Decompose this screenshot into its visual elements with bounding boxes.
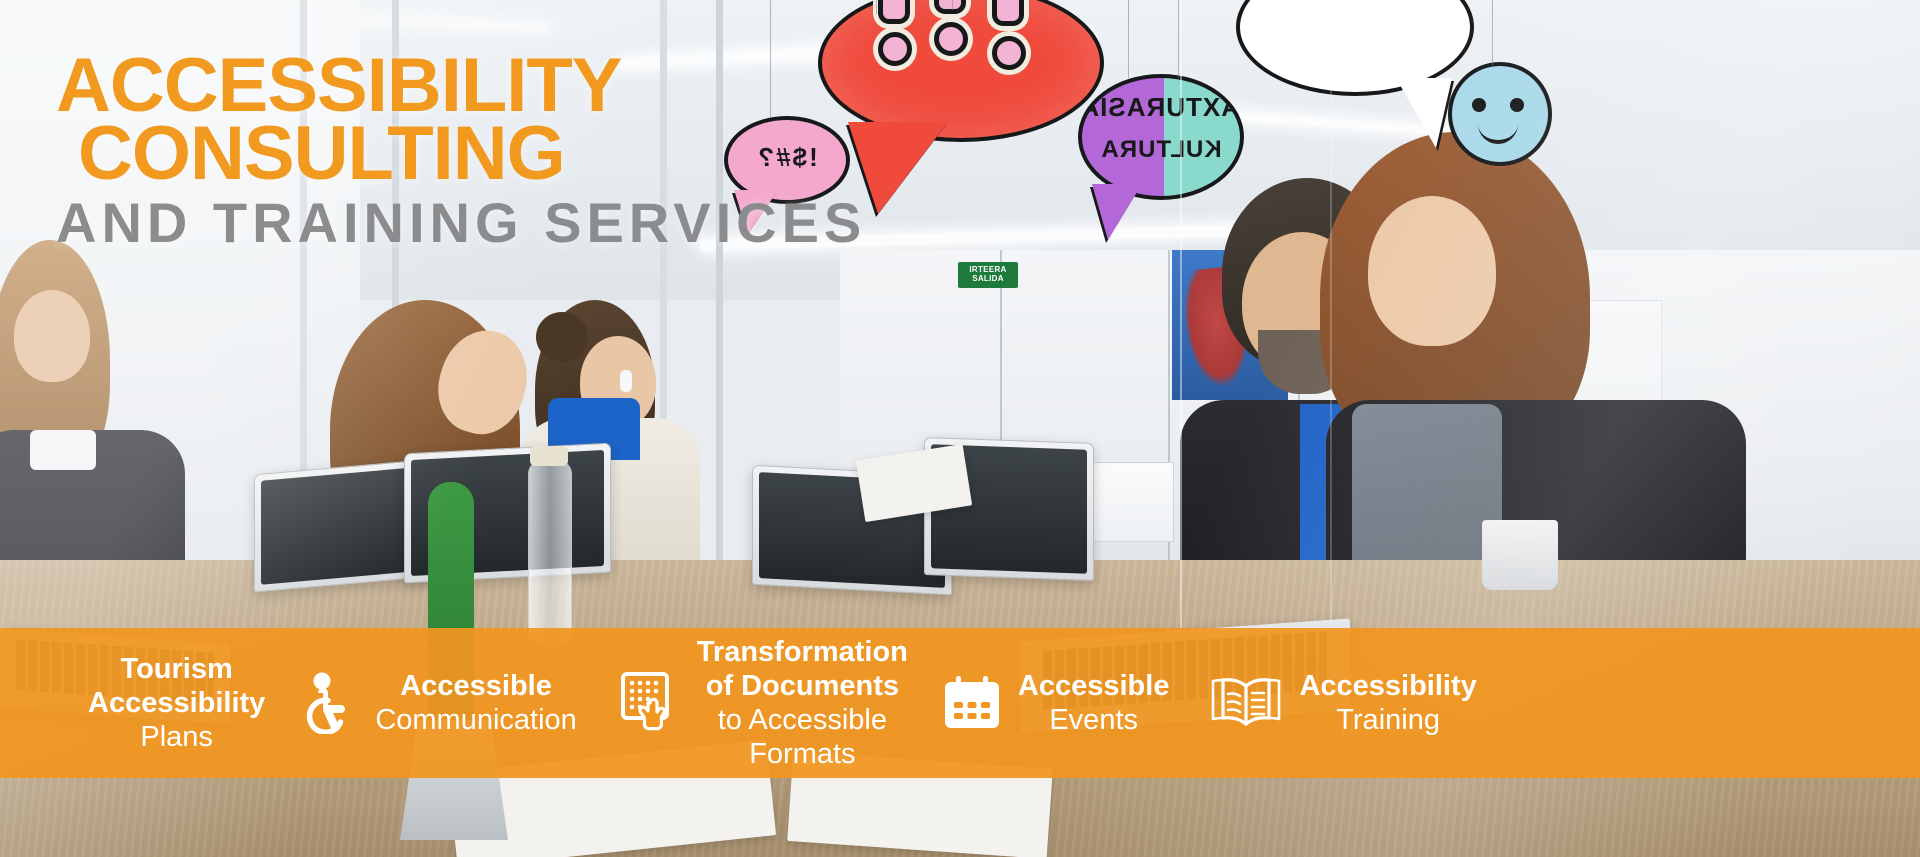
wheelchair-icon [301, 672, 359, 734]
service-light-1: to Accessible [697, 703, 908, 737]
headline-line-1: ACCESSIBILITY [56, 52, 866, 120]
service-light-1: Events [1018, 703, 1170, 737]
service-label: Transformation of Documents to Accessibl… [697, 635, 908, 771]
service-label: Accessibility Training [1299, 669, 1476, 737]
bubble-text-right: KULTURA [1082, 136, 1240, 164]
face-doodle-bubble [1448, 62, 1552, 166]
service-item-tourism-accessibility-plans[interactable]: Tourism Accessibility Plans [88, 652, 265, 754]
service-strong-1: Accessible [375, 669, 576, 703]
service-light-1: Plans [88, 720, 265, 754]
service-item-accessibility-training[interactable]: Accessibility Training [1209, 669, 1476, 737]
service-light-1: Training [1299, 703, 1476, 737]
bottle-cap [530, 446, 568, 466]
blue-speech-bubble [1236, 0, 1474, 96]
headline-line-2: CONSULTING [78, 120, 866, 188]
service-item-transformation-of-documents[interactable]: Transformation of Documents to Accessibl… [619, 635, 908, 771]
bubble-text-left: AXTURASIA [1082, 92, 1240, 123]
service-light-2: Formats [697, 737, 908, 771]
headline-line-3: AND TRAINING SERVICES [56, 188, 866, 258]
service-item-accessible-events[interactable]: Accessible Events [942, 669, 1170, 737]
service-strong-1: Accessible [1018, 669, 1170, 703]
open-book-icon [1209, 673, 1283, 733]
service-strong-2: of Documents [697, 669, 908, 703]
service-strong-1: Transformation [697, 635, 908, 669]
purple-teal-speech-bubble: AXTURASIA KULTURA [1078, 74, 1244, 200]
service-strong-2: Accessibility [88, 686, 265, 720]
service-strong-1: Accessibility [1299, 669, 1476, 703]
exit-sign: IRTEERASALIDA [958, 262, 1018, 288]
service-label: Tourism Accessibility Plans [88, 652, 265, 754]
accessibility-services-banner: IRTEERASALIDA [0, 0, 1920, 857]
services-bar: Tourism Accessibility Plans Accessible C… [0, 628, 1920, 778]
calendar-icon [942, 674, 1002, 732]
service-item-accessible-communication[interactable]: Accessible Communication [301, 669, 576, 737]
service-strong-1: Tourism [88, 652, 265, 686]
service-light-1: Communication [375, 703, 576, 737]
service-label: Accessible Communication [375, 669, 576, 737]
water-bottle [528, 460, 572, 642]
paper-cup [1482, 520, 1558, 590]
braille-touch-icon [619, 670, 681, 736]
banner-headline: ACCESSIBILITY CONSULTING AND TRAINING SE… [56, 52, 866, 258]
service-label: Accessible Events [1018, 669, 1170, 737]
